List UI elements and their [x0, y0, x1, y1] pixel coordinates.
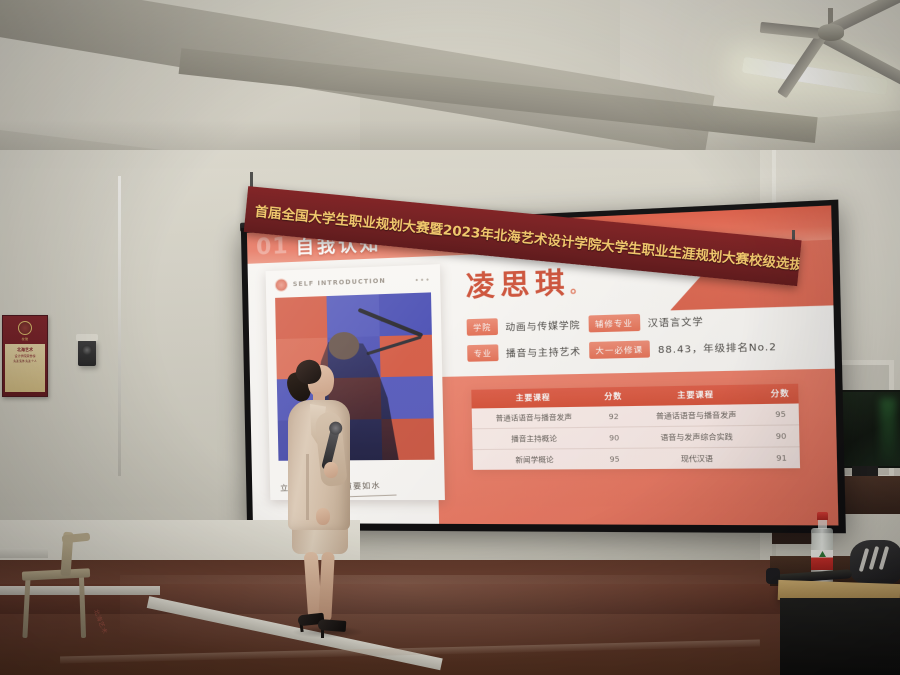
more-options-icon: •••: [414, 275, 430, 284]
info-tag-gpa: 大一必修课: [589, 340, 651, 359]
presenter-name-text: 凌思琪: [466, 267, 571, 303]
slide-section-number: 01: [256, 235, 289, 259]
photo-card-header: SELF INTRODUCTION •••: [275, 273, 431, 292]
cell-course: 普通话语音与播音发声: [472, 407, 597, 429]
col-course-1: 主要课程: [471, 387, 596, 408]
monitor-screen-glow: [880, 398, 896, 462]
speaker-cone: [82, 345, 92, 355]
presenter-shoe: [318, 619, 347, 632]
cell-course: 播音主持概论: [472, 427, 597, 449]
plaque-subtitle: 设计学院荣誉榜: [14, 354, 35, 358]
col-course-2: 主要课程: [630, 384, 762, 406]
side-desk: [0, 548, 48, 558]
cell-course: 普通话语音与播音发声: [631, 404, 763, 427]
cell-score: 92: [596, 406, 631, 427]
plaque-crest-label: 校徽: [22, 337, 29, 341]
plaque-title: 北海艺术: [17, 347, 33, 353]
info-tag-college: 学院: [467, 318, 498, 336]
info-value-major: 播音与主持艺术: [506, 344, 581, 360]
coat-fold: [306, 454, 309, 520]
plaque-lines: 先进 集体 先进 个人: [13, 360, 36, 364]
ceiling-fan-icon: [818, 24, 844, 41]
info-value-minor: 汉语言文学: [648, 314, 704, 330]
col-score-2: 分数: [762, 384, 799, 404]
info-tag-major: 专业: [467, 344, 498, 361]
presenter-hand: [316, 508, 330, 525]
cell-course: 新闻学概论: [473, 449, 598, 470]
classroom-photo-scene: 校徽 北海艺术 设计学院荣誉榜 先进 集体 先进 个人 01 自我认知: [0, 0, 900, 675]
presenter: [276, 358, 362, 654]
floor-sheen: [120, 575, 820, 675]
course-score-table: 主要课程 分数 主要课程 分数 普通话语音与播音发声 92 普通话语音与播音发声…: [471, 384, 800, 470]
cell-score: 95: [762, 403, 799, 425]
table-row: 新闻学概论 95 现代汉语 91: [473, 447, 800, 470]
photo-card-label: SELF INTRODUCTION: [293, 278, 386, 289]
cell-score: 90: [763, 425, 800, 447]
cell-score: 95: [597, 448, 632, 469]
table-row: 播音主持概论 90 语音与发声综合实践 90: [472, 425, 799, 450]
presenter-leg: [318, 552, 335, 623]
backpack: [850, 540, 900, 584]
bottle-cap: [817, 512, 828, 520]
wall-seam: [118, 176, 121, 476]
cell-course: 现代汉语: [632, 447, 764, 469]
bottle-label: [811, 550, 833, 570]
avatar-icon: [275, 278, 288, 292]
front-table-underside: [780, 598, 900, 675]
cell-score: 90: [597, 427, 632, 449]
plaque-body: 北海艺术 设计学院荣誉榜 先进 集体 先进 个人: [5, 344, 45, 392]
presenter-name-punct: 。: [570, 279, 591, 297]
col-score-1: 分数: [596, 387, 631, 407]
cell-course: 语音与发声综合实践: [631, 425, 763, 448]
info-value-gpa: 88.43，年级排名No.2: [658, 339, 777, 356]
info-tag-minor: 辅修专业: [588, 314, 640, 333]
school-crest-icon: [18, 321, 32, 335]
cell-score: 91: [763, 447, 800, 469]
wall-speaker-icon: [78, 340, 96, 366]
slide-info-rows: 学院 动画与传媒学院 辅修专业 汉语言文学 专业 播音与主持艺术 大一必修课 8…: [467, 309, 806, 362]
info-row: 专业 播音与主持艺术 大一必修课 88.43，年级排名No.2: [467, 336, 806, 361]
bottle-neck: [818, 520, 827, 529]
presenter-hand: [324, 462, 338, 478]
wall-plaque: 校徽 北海艺术 设计学院荣誉榜 先进 集体 先进 个人: [2, 315, 48, 397]
info-value-college: 动画与传媒学院: [505, 317, 580, 333]
info-row: 学院 动画与传媒学院 辅修专业 汉语言文学: [467, 309, 806, 336]
